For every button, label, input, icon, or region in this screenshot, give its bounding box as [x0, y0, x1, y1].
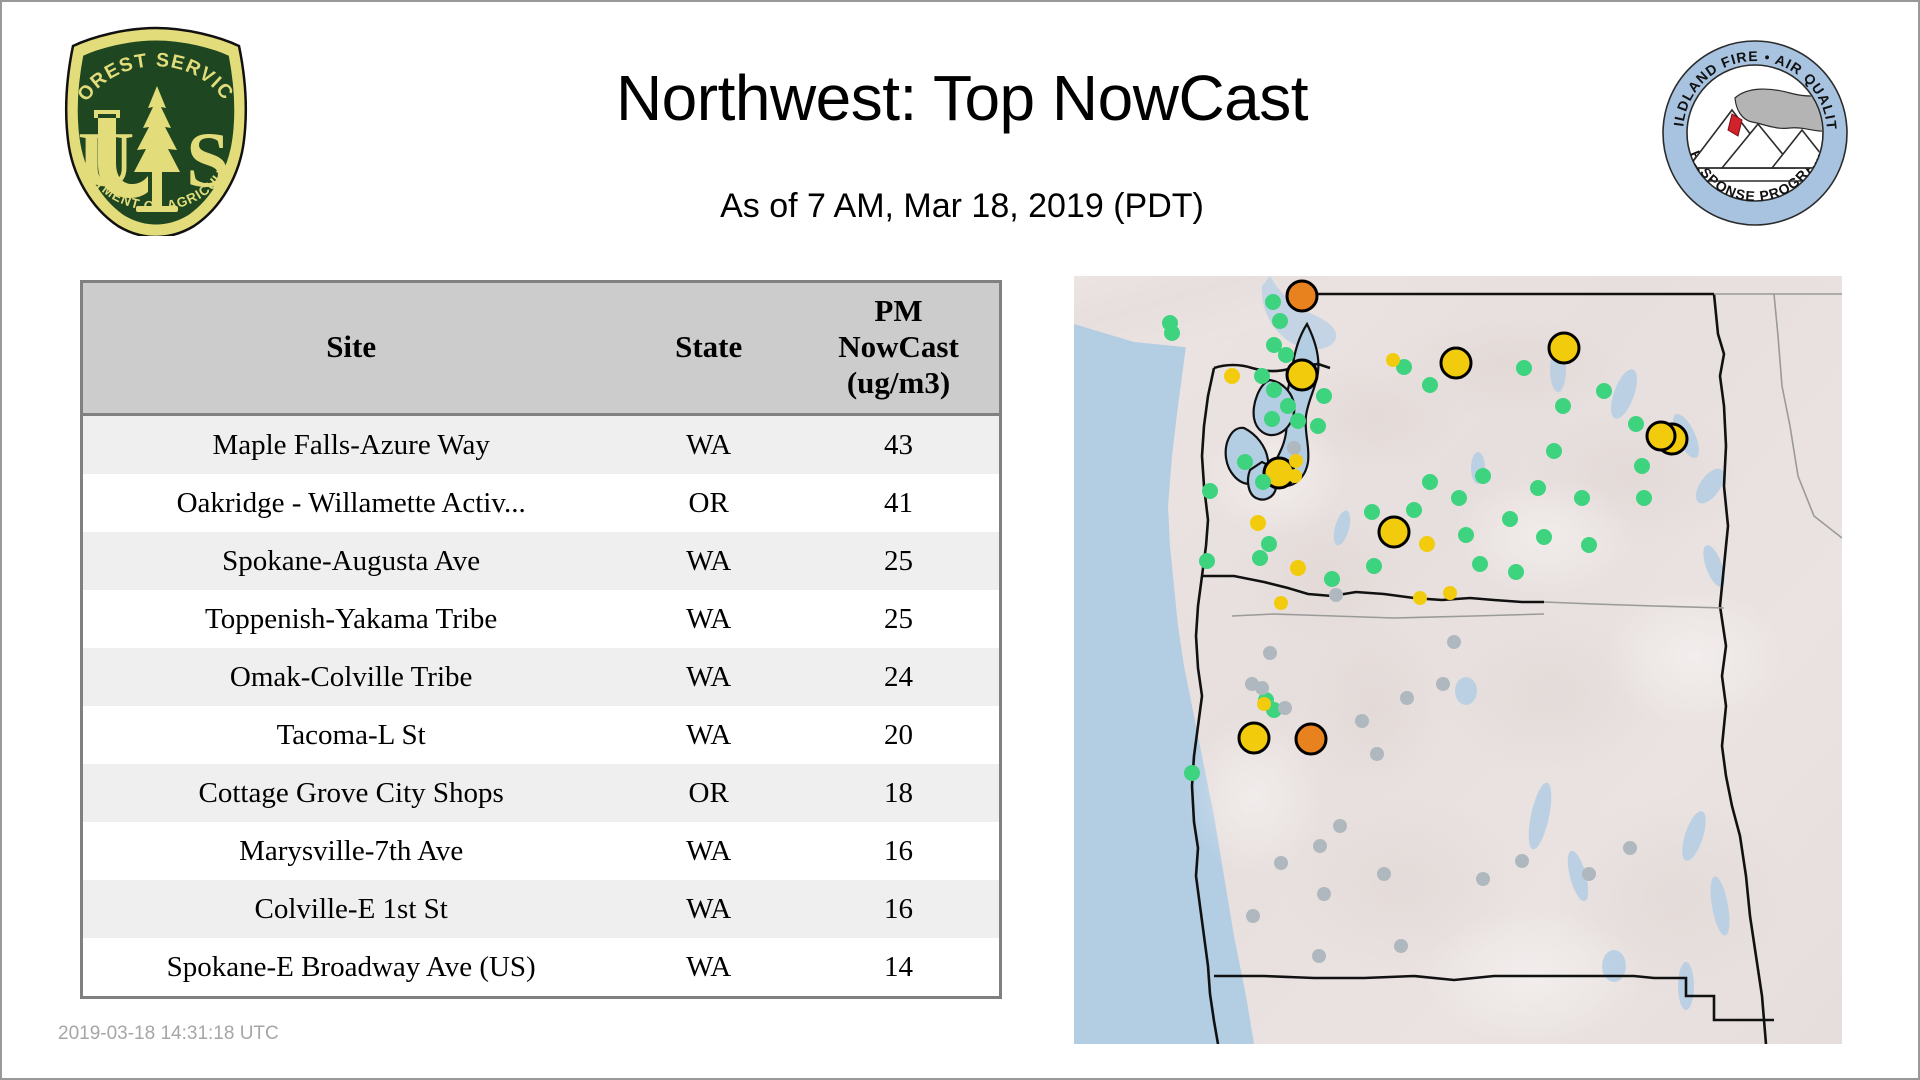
map-marker[interactable]	[1263, 646, 1277, 660]
map-marker[interactable]	[1324, 571, 1340, 587]
map-marker-highlighted[interactable]: Maple Falls-Azure Way	[1287, 281, 1317, 311]
map-marker[interactable]	[1290, 560, 1306, 576]
cell-site: Toppenish-Yakama Tribe	[83, 590, 619, 648]
map-marker[interactable]	[1476, 872, 1490, 886]
map-marker[interactable]	[1224, 368, 1240, 384]
map-marker-highlighted[interactable]: Marysville-7th Ave	[1287, 360, 1317, 390]
table-row[interactable]: Spokane-E Broadway Ave (US)WA14	[83, 938, 999, 996]
map-marker[interactable]	[1329, 588, 1343, 602]
map-marker[interactable]	[1596, 383, 1612, 399]
map-marker[interactable]	[1458, 527, 1474, 543]
map-marker[interactable]	[1475, 468, 1491, 484]
map-marker[interactable]	[1406, 502, 1422, 518]
cell-site: Oakridge - Willamette Activ...	[83, 474, 619, 532]
cell-state: WA	[619, 822, 798, 880]
map-marker[interactable]	[1272, 313, 1288, 329]
table-header-row: Site State PM NowCast (ug/m3)	[83, 283, 999, 415]
map-marker-highlighted[interactable]: Toppenish-Yakama Tribe	[1379, 517, 1409, 547]
pm-header-line-1: PM	[874, 293, 922, 328]
map-marker[interactable]	[1280, 398, 1296, 414]
map-marker[interactable]	[1333, 819, 1347, 833]
pm-header-line-2: NowCast	[838, 329, 959, 364]
map-marker[interactable]	[1508, 564, 1524, 580]
table-row[interactable]: Colville-E 1st StWA16	[83, 880, 999, 938]
cell-state: OR	[619, 474, 798, 532]
map-marker[interactable]	[1386, 353, 1400, 367]
map-marker[interactable]	[1289, 454, 1303, 468]
map-marker[interactable]	[1261, 536, 1277, 552]
table-row[interactable]: Marysville-7th AveWA16	[83, 822, 999, 880]
map-marker[interactable]	[1364, 504, 1380, 520]
map-marker[interactable]	[1310, 418, 1326, 434]
cell-state: WA	[619, 590, 798, 648]
table-header: Site State PM NowCast (ug/m3)	[83, 283, 999, 415]
map-marker[interactable]	[1574, 490, 1590, 506]
map-marker[interactable]	[1530, 480, 1546, 496]
map-marker-highlighted[interactable]: Oakridge - Willamette Activ...	[1296, 724, 1326, 754]
cell-site: Maple Falls-Azure Way	[83, 415, 619, 475]
map-marker[interactable]	[1422, 377, 1438, 393]
map-marker-highlighted[interactable]: Cottage Grove City Shops	[1239, 723, 1269, 753]
cell-state: WA	[619, 706, 798, 764]
map-marker[interactable]	[1436, 677, 1450, 691]
cell-site: Spokane-E Broadway Ave (US)	[83, 938, 619, 996]
map-marker[interactable]	[1199, 553, 1215, 569]
table-row[interactable]: Maple Falls-Azure WayWA43	[83, 415, 999, 475]
map-marker[interactable]	[1377, 867, 1391, 881]
table-row[interactable]: Oakridge - Willamette Activ...OR41	[83, 474, 999, 532]
cell-state: WA	[619, 415, 798, 475]
map-marker[interactable]	[1413, 591, 1427, 605]
cell-pm-nowcast: 24	[798, 648, 999, 706]
column-header-pm-nowcast[interactable]: PM NowCast (ug/m3)	[798, 283, 999, 415]
cell-state: WA	[619, 938, 798, 996]
cell-site: Marysville-7th Ave	[83, 822, 619, 880]
map-marker[interactable]	[1278, 347, 1294, 363]
map-marker[interactable]	[1255, 474, 1271, 490]
map-marker[interactable]	[1581, 537, 1597, 553]
map-marker[interactable]	[1316, 388, 1332, 404]
top-nowcast-table: Site State PM NowCast (ug/m3) Maple Fall…	[83, 283, 999, 996]
map-marker[interactable]	[1515, 854, 1529, 868]
map-marker[interactable]	[1394, 939, 1408, 953]
table-row[interactable]: Omak-Colville TribeWA24	[83, 648, 999, 706]
cell-site: Omak-Colville Tribe	[83, 648, 619, 706]
map-marker[interactable]	[1472, 556, 1488, 572]
map-marker[interactable]	[1257, 697, 1271, 711]
page-title: Northwest: Top NowCast	[262, 60, 1662, 136]
map-marker[interactable]	[1366, 558, 1382, 574]
cell-pm-nowcast: 18	[798, 764, 999, 822]
cell-pm-nowcast: 25	[798, 532, 999, 590]
air-quality-map[interactable]: Maple Falls-Azure WayMarysville-7th AveT…	[1074, 276, 1842, 1044]
cell-state: OR	[619, 764, 798, 822]
map-marker[interactable]	[1400, 691, 1414, 705]
map-marker[interactable]	[1502, 511, 1518, 527]
us-forest-service-logo: FOREST SERVICE DEPARTMENT OF AGRICULTURE…	[58, 26, 254, 236]
map-marker[interactable]	[1555, 398, 1571, 414]
map-marker[interactable]	[1370, 747, 1384, 761]
cell-pm-nowcast: 16	[798, 880, 999, 938]
map-marker[interactable]	[1536, 529, 1552, 545]
map-marker[interactable]	[1265, 294, 1281, 310]
cell-pm-nowcast: 20	[798, 706, 999, 764]
map-marker[interactable]	[1634, 458, 1650, 474]
slide-page: FOREST SERVICE DEPARTMENT OF AGRICULTURE…	[0, 0, 1920, 1080]
cell-pm-nowcast: 16	[798, 822, 999, 880]
top-nowcast-table-container: Site State PM NowCast (ug/m3) Maple Fall…	[80, 280, 1002, 999]
cell-site: Colville-E 1st St	[83, 880, 619, 938]
cell-state: WA	[619, 880, 798, 938]
map-marker[interactable]	[1419, 536, 1435, 552]
cell-pm-nowcast: 41	[798, 474, 999, 532]
map-marker[interactable]	[1290, 413, 1306, 429]
map-marker[interactable]	[1628, 416, 1644, 432]
map-marker[interactable]	[1313, 839, 1327, 853]
map-marker[interactable]	[1516, 360, 1532, 376]
map-marker[interactable]	[1317, 887, 1331, 901]
map-marker[interactable]	[1274, 856, 1288, 870]
map-marker[interactable]	[1246, 909, 1260, 923]
map-marker-highlighted[interactable]: Omak-Colville Tribe	[1441, 348, 1471, 378]
wildland-fire-air-quality-logo: WILDLAND FIRE • AIR QUALITY RESPONSE PRO…	[1660, 38, 1850, 228]
cell-pm-nowcast: 14	[798, 938, 999, 996]
map-marker[interactable]	[1254, 368, 1270, 384]
table-row[interactable]: Toppenish-Yakama TribeWA25	[83, 590, 999, 648]
map-marker[interactable]	[1255, 681, 1269, 695]
column-header-site[interactable]: Site	[83, 283, 619, 415]
map-marker[interactable]	[1164, 325, 1180, 341]
map-marker[interactable]	[1355, 714, 1369, 728]
footer-timestamp: 2019-03-18 14:31:18 UTC	[58, 1023, 279, 1045]
cell-site: Tacoma-L St	[83, 706, 619, 764]
map-marker[interactable]	[1443, 586, 1457, 600]
cell-state: WA	[619, 648, 798, 706]
map-marker[interactable]	[1250, 515, 1266, 531]
cell-pm-nowcast: 25	[798, 590, 999, 648]
table-body: Maple Falls-Azure WayWA43Oakridge - Will…	[83, 415, 999, 997]
map-marker[interactable]	[1288, 469, 1302, 483]
cell-site: Spokane-Augusta Ave	[83, 532, 619, 590]
map-marker[interactable]	[1447, 635, 1461, 649]
map-marker[interactable]	[1312, 949, 1326, 963]
page-subtitle: As of 7 AM, Mar 18, 2019 (PDT)	[262, 185, 1662, 227]
column-header-state[interactable]: State	[619, 283, 798, 415]
cell-site: Cottage Grove City Shops	[83, 764, 619, 822]
map-marker[interactable]	[1274, 596, 1288, 610]
map-marker[interactable]	[1278, 701, 1292, 715]
pm-header-line-3: (ug/m3)	[847, 365, 950, 400]
map-marker[interactable]	[1422, 474, 1438, 490]
map-marker[interactable]	[1202, 483, 1218, 499]
map-marker[interactable]	[1184, 765, 1200, 781]
table-row[interactable]: Cottage Grove City ShopsOR18	[83, 764, 999, 822]
map-marker[interactable]	[1451, 490, 1467, 506]
map-marker[interactable]	[1252, 550, 1268, 566]
map-marker-highlighted[interactable]: Spokane-E Broadway Ave (US)	[1647, 422, 1675, 450]
map-marker[interactable]	[1623, 841, 1637, 855]
map-marker[interactable]	[1636, 490, 1652, 506]
cell-state: WA	[619, 532, 798, 590]
table-row[interactable]: Tacoma-L StWA20	[83, 706, 999, 764]
map-marker[interactable]	[1582, 867, 1596, 881]
map-marker[interactable]	[1287, 441, 1301, 455]
table-row[interactable]: Spokane-Augusta AveWA25	[83, 532, 999, 590]
map-marker[interactable]	[1237, 454, 1253, 470]
map-marker[interactable]	[1546, 443, 1562, 459]
map-marker[interactable]	[1266, 382, 1282, 398]
cell-pm-nowcast: 43	[798, 415, 999, 475]
map-marker-highlighted[interactable]: Colville-E 1st St	[1549, 333, 1579, 363]
map-marker[interactable]	[1264, 411, 1280, 427]
